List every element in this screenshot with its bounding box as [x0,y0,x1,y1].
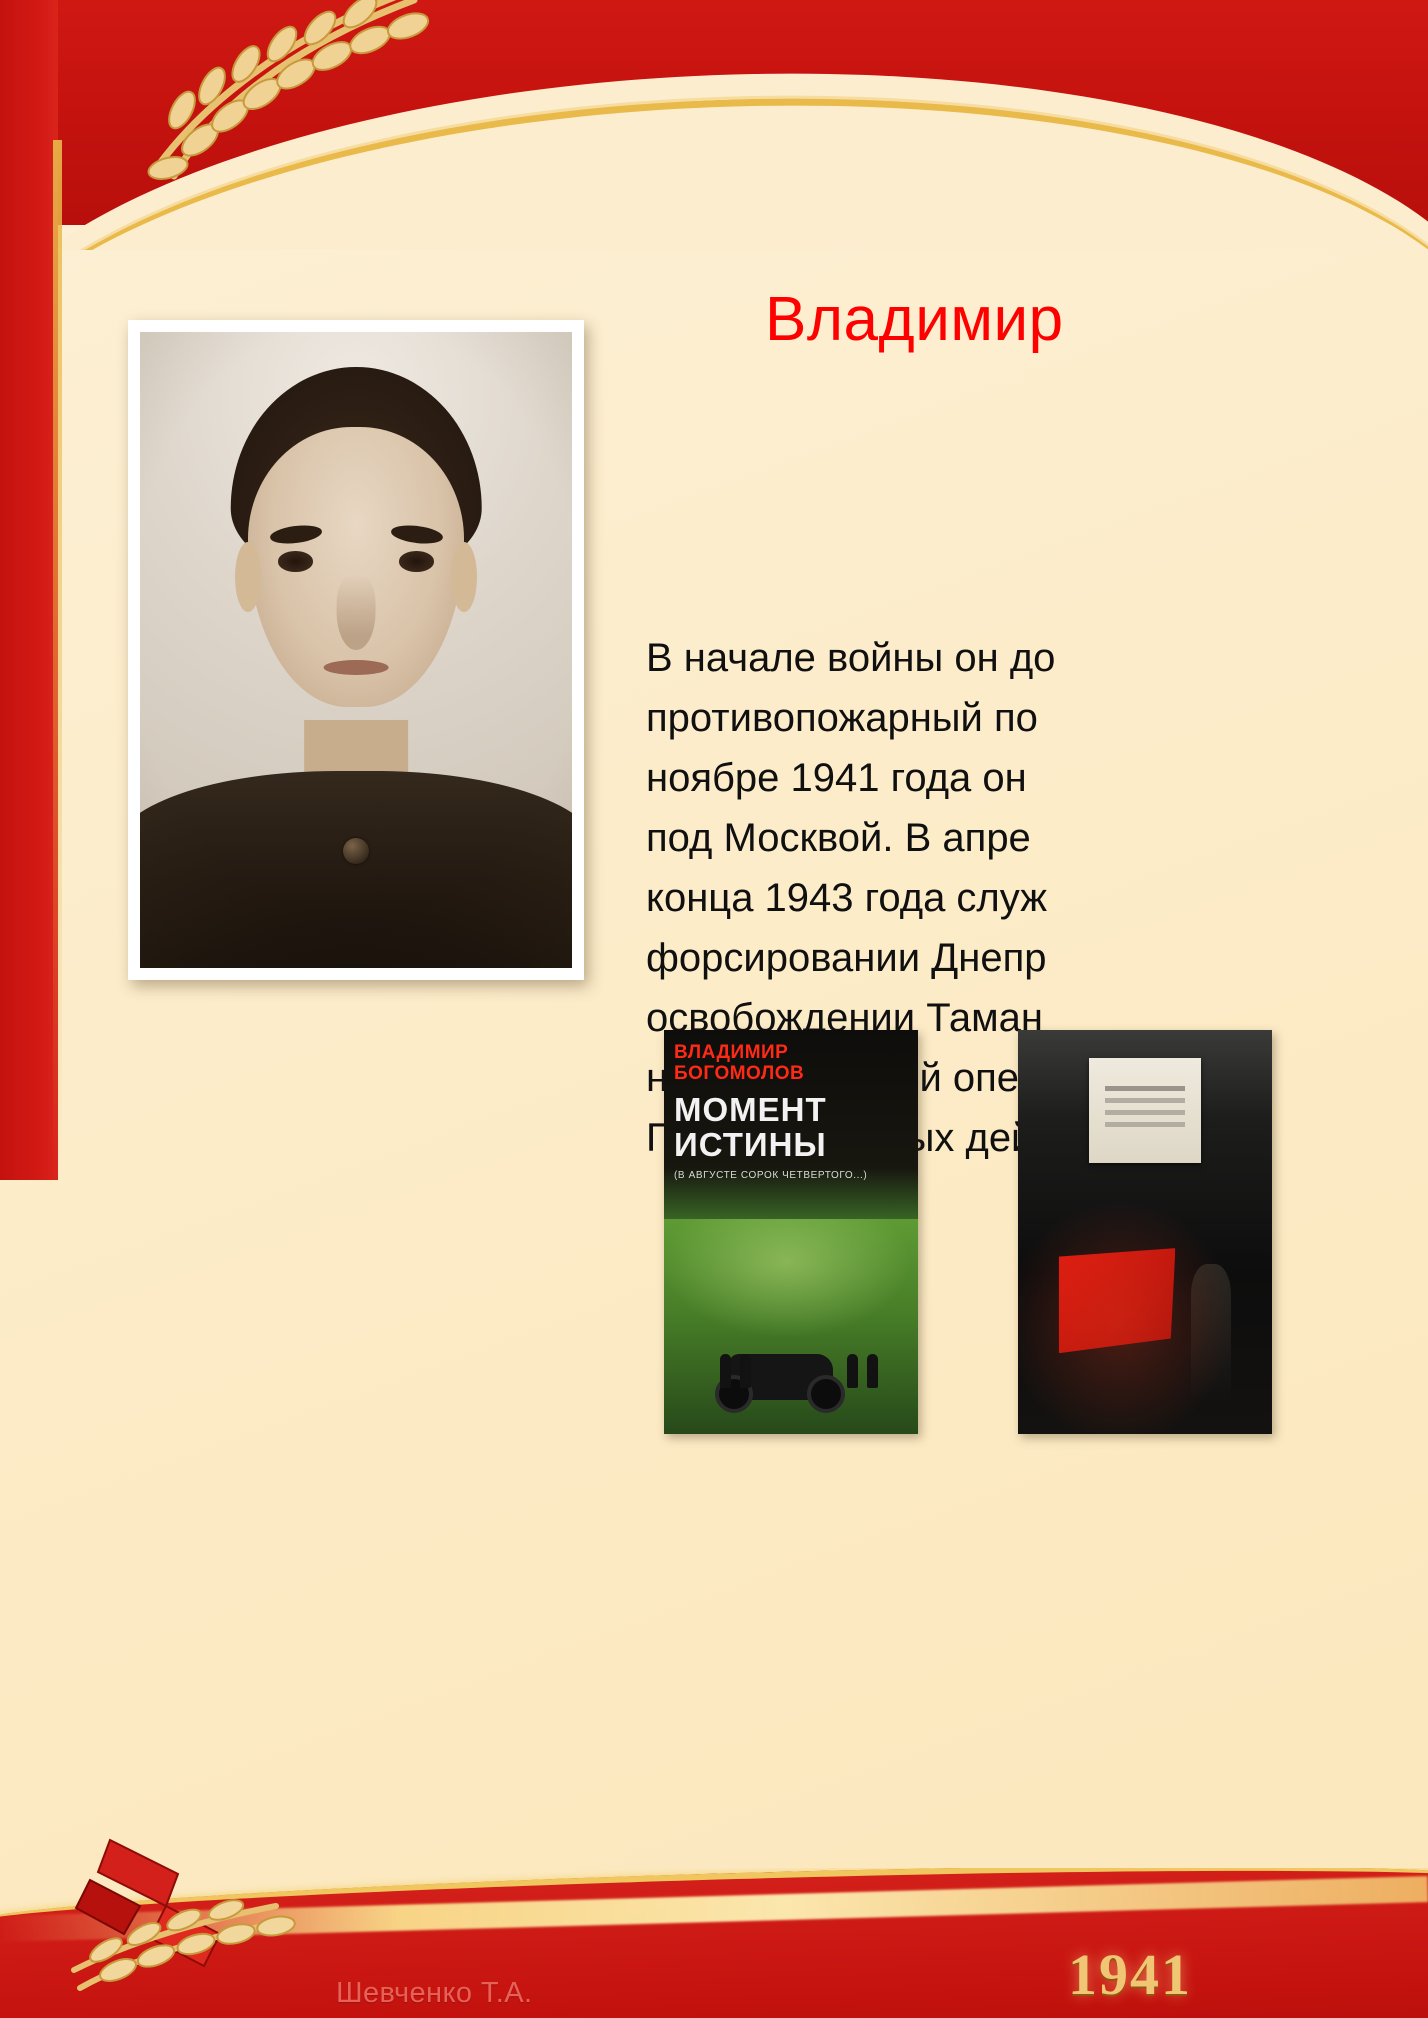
cover-illustration [664,1219,918,1434]
cover-author-line-2: БОГОМОЛОВ [674,1063,908,1084]
cover-title: МОМЕНТ ИСТИНЫ [674,1092,908,1162]
cover-title-line-1: МОМЕНТ [674,1092,908,1127]
bottom-banner-gold-curve [0,1868,1428,2018]
portrait-vignette [140,332,572,968]
body-line: под Москвой. В апре [646,808,1428,868]
bottom-red-banner [0,1868,1428,2018]
cover-author-line-1: ВЛАДИМИР [674,1042,908,1063]
top-red-banner [0,0,1428,250]
book-cover-second[interactable] [1018,1030,1272,1434]
body-line: конца 1943 года служ [646,868,1428,928]
page-title: Владимир [765,284,1064,355]
body-line: ноябре 1941 года он [646,748,1428,808]
portrait-photo [140,332,572,968]
cover-glow-overlay [1018,1030,1272,1434]
cover-subtitle: (В АВГУСТЕ СОРОК ЧЕТВЕРТОГО...) [674,1170,908,1181]
portrait-frame [128,320,584,980]
body-line: противопожарный по [646,688,1428,748]
book-cover-moment-istiny[interactable]: ВЛАДИМИР БОГОМОЛОВ МОМЕНТ ИСТИНЫ (В АВГУ… [664,1030,918,1434]
year-label: 1941 [1068,1941,1192,2008]
left-red-strip [0,0,58,1180]
body-line: В начале войны он до [646,628,1428,688]
body-line: форсировании Днепр [646,928,1428,988]
cover-figure-icon [867,1354,878,1388]
cover-figure-icon [720,1354,731,1388]
cover-figure-icon [740,1354,751,1388]
cover-title-line-2: ИСТИНЫ [674,1127,908,1162]
cover-author-name: ВЛАДИМИР БОГОМОЛОВ [674,1042,908,1084]
presentation-slide: Владимир В начале войны он до противопож… [0,0,1428,2018]
cover-figure-icon [847,1354,858,1388]
footer-credit: Шевченко Т.А. [336,1977,532,2010]
